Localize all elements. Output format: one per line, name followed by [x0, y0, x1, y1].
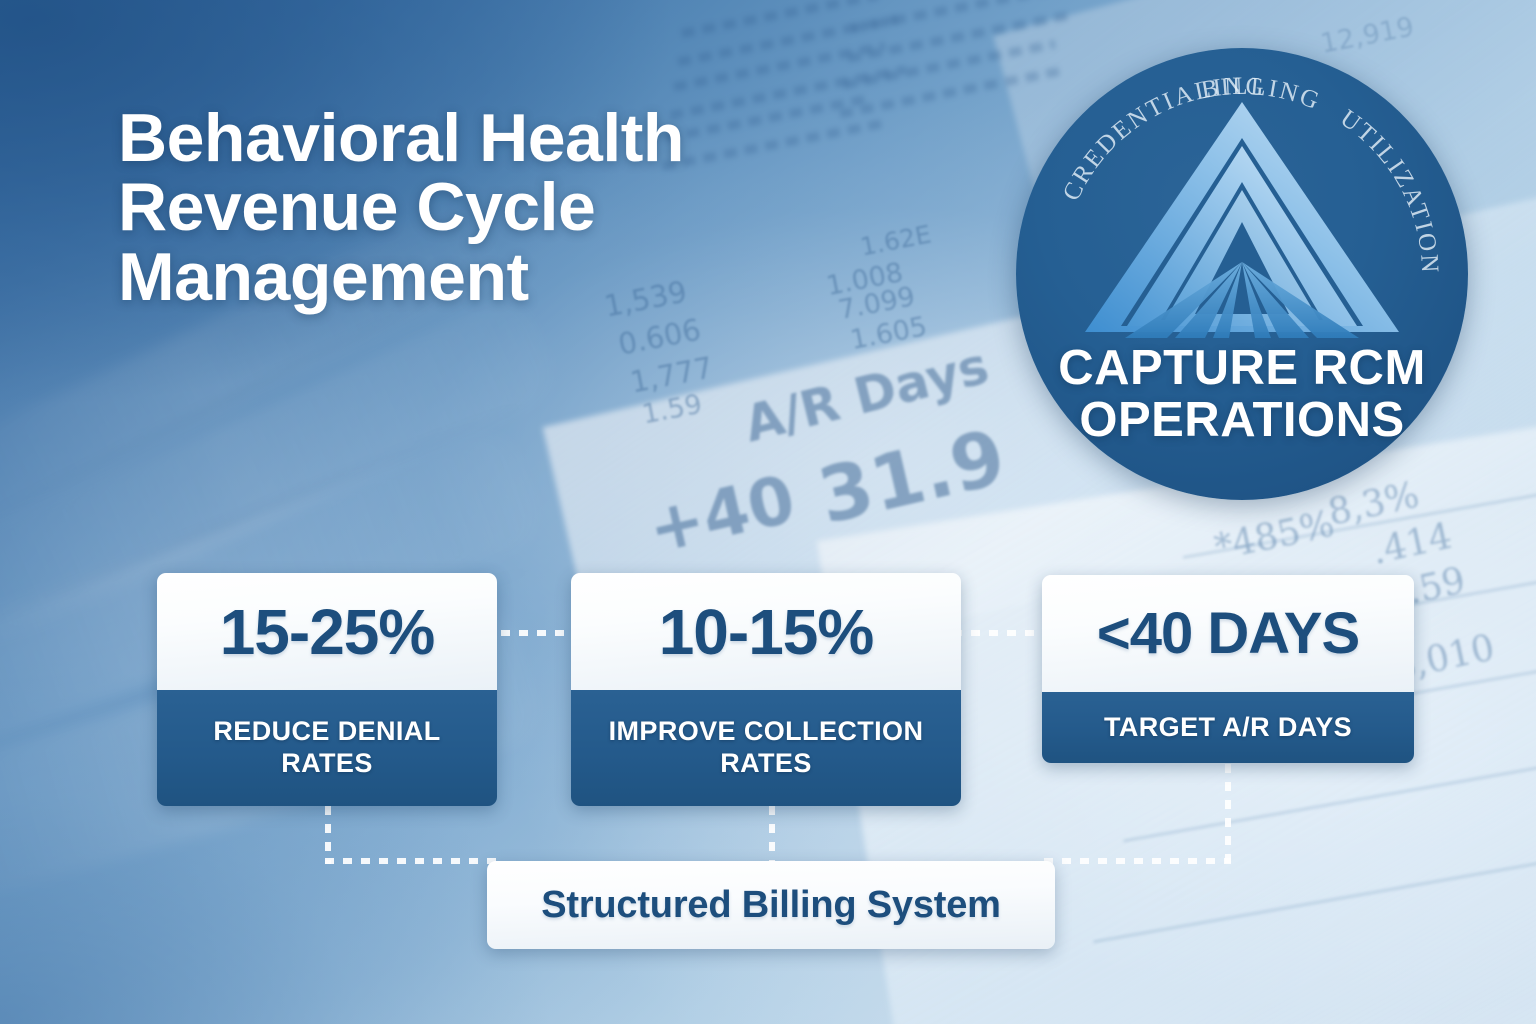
stat-card-label: REDUCE DENIAL RATES: [157, 716, 497, 780]
stat-card-target-ar-days[interactable]: <40 DAYS TARGET A/R DAYS: [1042, 575, 1414, 763]
stat-card-value-panel: <40 DAYS: [1042, 575, 1414, 692]
connector-card1-card2: [483, 630, 579, 636]
page-title: Behavioral Health Revenue Cycle Manageme…: [118, 104, 818, 312]
footer-callout-structured-billing-system[interactable]: Structured Billing System: [487, 861, 1055, 949]
connector-card2-card3: [953, 630, 1049, 636]
stat-card-value: <40 DAYS: [1097, 600, 1359, 667]
stat-card-label-panel: REDUCE DENIAL RATES: [157, 690, 497, 806]
badge-company-name-line-1: CAPTURE RCM: [1016, 342, 1468, 394]
page-title-line-1: Behavioral Health: [118, 104, 818, 173]
stat-card-label: IMPROVE COLLECTION RATES: [571, 716, 961, 780]
stat-card-label-panel: TARGET A/R DAYS: [1042, 692, 1414, 763]
badge-company-name: CAPTURE RCM OPERATIONS: [1016, 342, 1468, 447]
stat-card-value-panel: 15-25%: [157, 573, 497, 690]
page-title-line-3: Management: [118, 243, 818, 312]
stat-card-label-panel: IMPROVE COLLECTION RATES: [571, 690, 961, 806]
stat-card-improve-collection-rates[interactable]: 10-15% IMPROVE COLLECTION RATES: [571, 573, 961, 806]
stat-card-value: 10-15%: [659, 595, 874, 669]
stat-card-reduce-denial-rates[interactable]: 15-25% REDUCE DENIAL RATES: [157, 573, 497, 806]
page-title-line-2: Revenue Cycle: [118, 173, 818, 242]
infographic-canvas: 1,539 0.606 1,777 1.59 1.008 1.605 7.099…: [0, 0, 1536, 1024]
connector-card1-down: [325, 806, 331, 864]
stat-card-value-panel: 10-15%: [571, 573, 961, 690]
company-badge: CREDENTIALING BILLING UTILIZATION REVIEW: [1016, 48, 1468, 500]
connector-card1-to-footer: [325, 858, 497, 864]
badge-company-name-line-2: OPERATIONS: [1016, 394, 1468, 446]
footer-callout-label: Structured Billing System: [541, 884, 1001, 927]
connector-card3-to-footer: [1044, 858, 1231, 864]
nested-triangle-chevron-logo-icon: [1077, 94, 1407, 344]
connector-card2-down: [769, 806, 775, 864]
connector-card3-down: [1225, 764, 1231, 864]
stat-card-value: 15-25%: [220, 595, 435, 669]
stat-card-label: TARGET A/R DAYS: [1096, 712, 1360, 744]
